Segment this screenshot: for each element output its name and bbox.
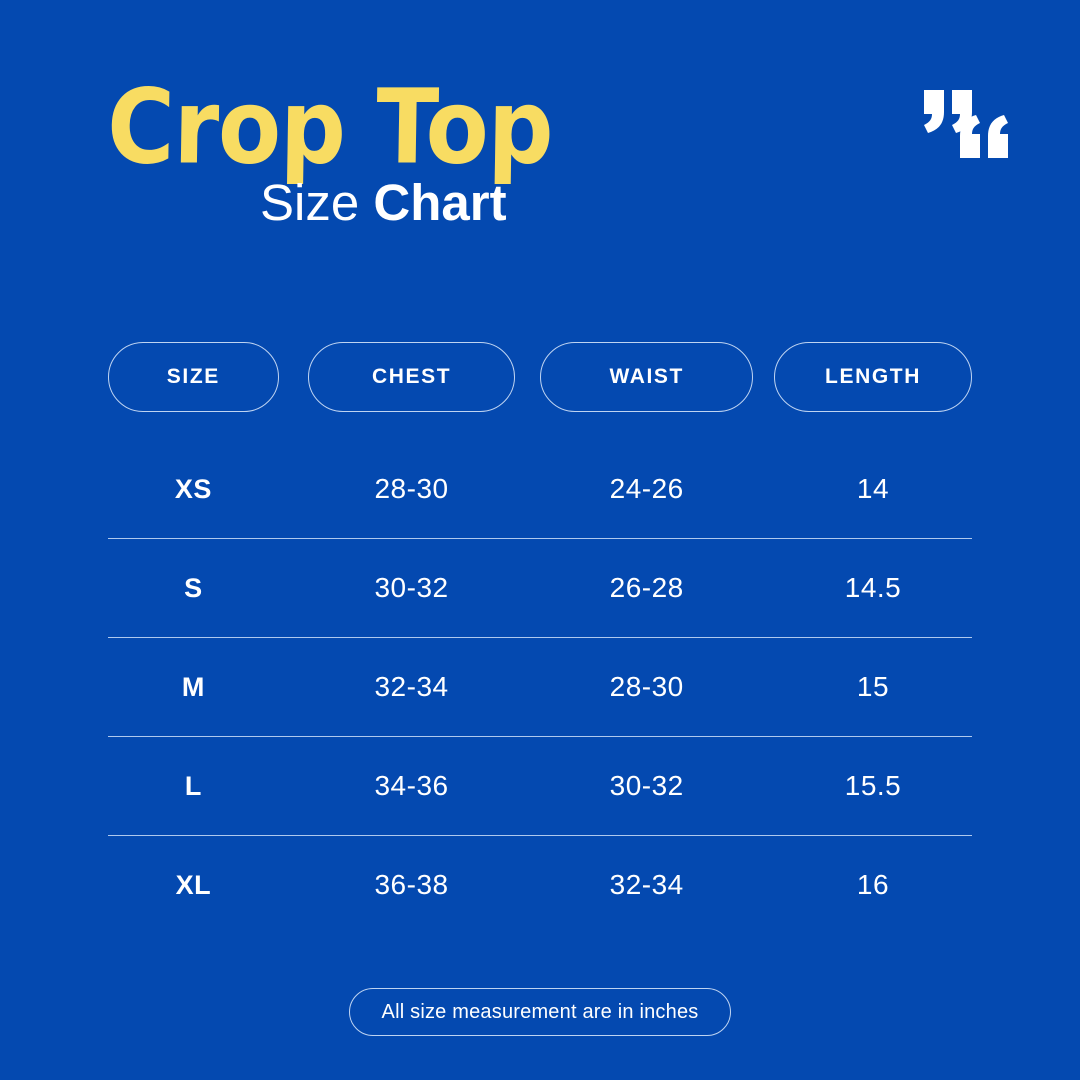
size-chart-poster: Crop Top Size Chart SIZE CHEST WAIST LEN… (0, 0, 1080, 1080)
title-block: Crop Top Size Chart (108, 72, 668, 252)
poster-header: Crop Top Size Chart (0, 0, 1080, 300)
cell-size: M (108, 638, 279, 736)
table-body: XS 28-30 24-26 14 S 30-32 26-28 14.5 M 3… (108, 440, 972, 934)
measurement-unit-note: All size measurement are in inches (349, 988, 732, 1036)
cell-waist: 30-32 (540, 737, 753, 835)
cell-length: 14.5 (774, 539, 972, 637)
page-title: Crop Top (106, 72, 553, 184)
size-chart-table: SIZE CHEST WAIST LENGTH XS 28-30 24-26 1… (108, 342, 972, 934)
page-subtitle-light: Size (260, 174, 373, 231)
column-header-chest: CHEST (308, 342, 516, 412)
table-row: L 34-36 30-32 15.5 (108, 736, 972, 835)
page-subtitle-bold: Chart (373, 174, 506, 231)
footer: All size measurement are in inches (0, 988, 1080, 1036)
cell-chest: 28-30 (308, 440, 516, 538)
cell-chest: 36-38 (308, 836, 516, 934)
cell-waist: 32-34 (540, 836, 753, 934)
column-header-length: LENGTH (774, 342, 972, 412)
cell-waist: 26-28 (540, 539, 753, 637)
cell-chest: 32-34 (308, 638, 516, 736)
table-row: S 30-32 26-28 14.5 (108, 538, 972, 637)
quotation-marks-logo-icon (920, 78, 1012, 170)
cell-size: XS (108, 440, 279, 538)
column-header-size: SIZE (108, 342, 279, 412)
table-row: XS 28-30 24-26 14 (108, 440, 972, 538)
page-subtitle: Size Chart (260, 174, 507, 232)
cell-waist: 24-26 (540, 440, 753, 538)
cell-chest: 34-36 (308, 737, 516, 835)
cell-size: L (108, 737, 279, 835)
column-header-waist: WAIST (540, 342, 753, 412)
cell-size: XL (108, 836, 279, 934)
cell-length: 15.5 (774, 737, 972, 835)
cell-length: 14 (774, 440, 972, 538)
cell-length: 16 (774, 836, 972, 934)
cell-size: S (108, 539, 279, 637)
table-row: M 32-34 28-30 15 (108, 637, 972, 736)
cell-chest: 30-32 (308, 539, 516, 637)
table-row: XL 36-38 32-34 16 (108, 835, 972, 934)
cell-waist: 28-30 (540, 638, 753, 736)
cell-length: 15 (774, 638, 972, 736)
table-header-row: SIZE CHEST WAIST LENGTH (108, 342, 972, 412)
